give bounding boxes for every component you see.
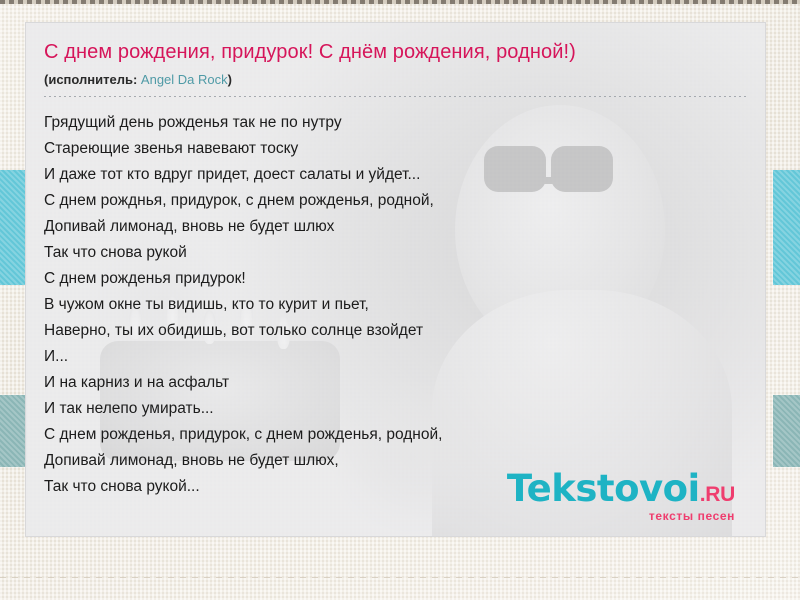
header-divider bbox=[44, 96, 747, 97]
lyrics-panel: С днем рождения, придурок! С днём рожден… bbox=[25, 22, 766, 537]
top-decorative-rule bbox=[0, 0, 800, 4]
artist-suffix-label: ) bbox=[228, 72, 232, 87]
decorative-swatch-left-muted bbox=[0, 395, 27, 467]
decorative-swatch-left-bright bbox=[0, 170, 27, 285]
lyrics-text: Грядущий день рожденья так не по нутру С… bbox=[44, 110, 747, 500]
page-canvas: С днем рождения, придурок! С днём рожден… bbox=[0, 0, 800, 600]
artist-prefix-label: (исполнитель: bbox=[44, 72, 141, 87]
page-title: С днем рождения, придурок! С днём рожден… bbox=[44, 39, 747, 65]
artist-link[interactable]: Angel Da Rock bbox=[141, 72, 228, 87]
logo-tagline: тексты песен bbox=[507, 510, 735, 522]
bottom-decorative-rule bbox=[0, 577, 800, 578]
decorative-swatch-right-muted bbox=[773, 395, 800, 467]
decorative-swatch-right-bright bbox=[773, 170, 800, 285]
artist-line: (исполнитель: Angel Da Rock) bbox=[44, 71, 747, 88]
